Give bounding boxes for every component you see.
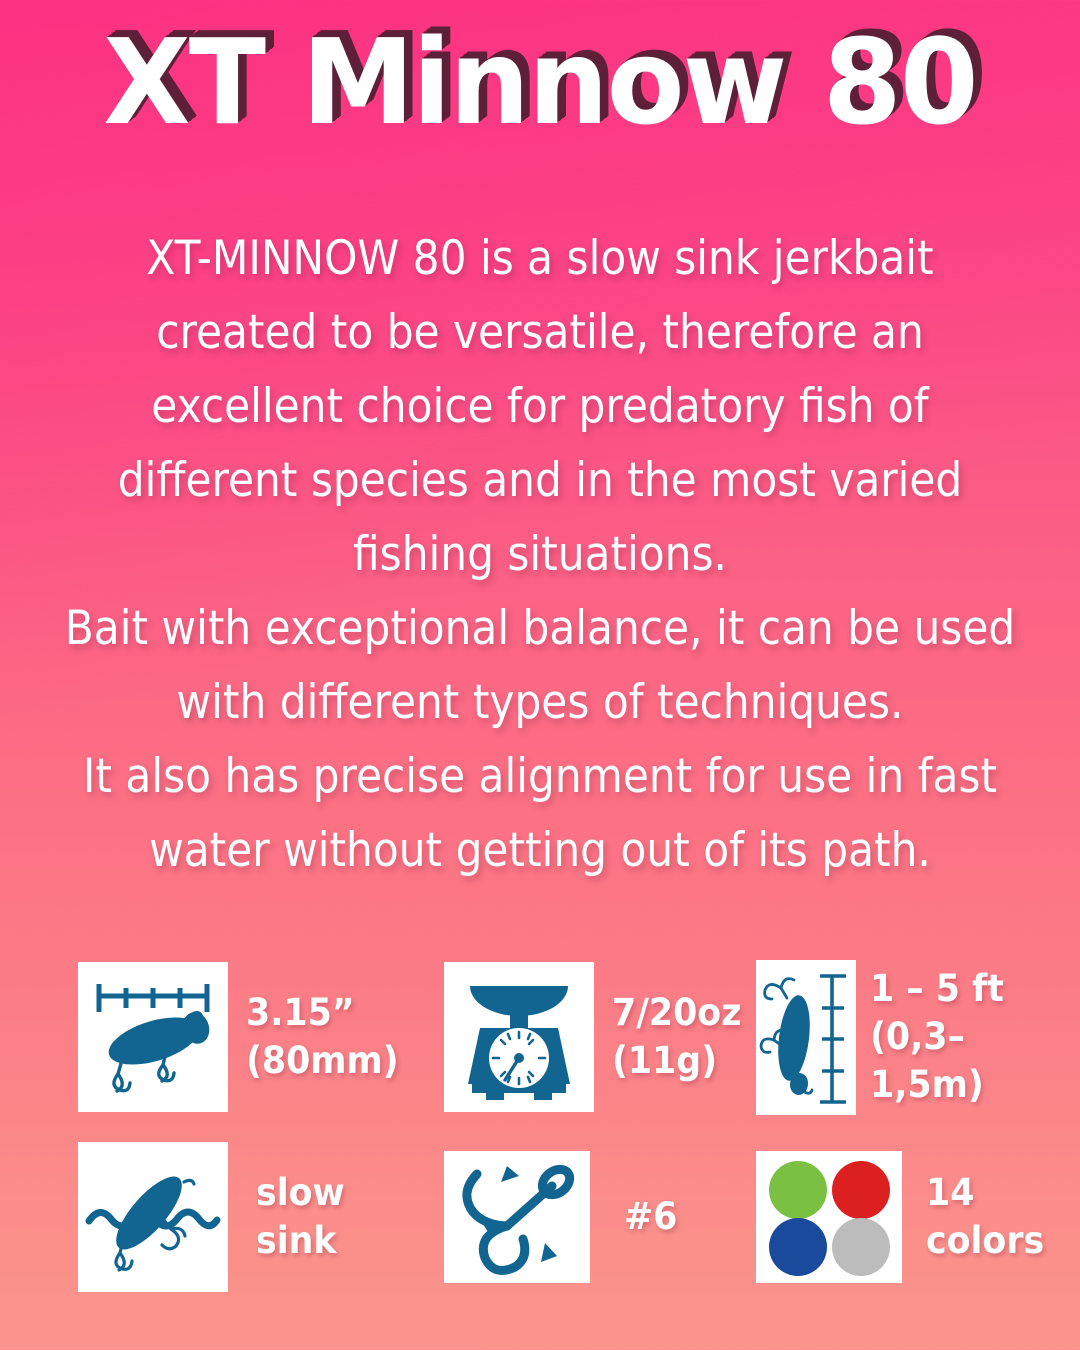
- spec-item-hook-size: #6: [444, 1151, 756, 1283]
- lure-with-ruler-icon: [78, 962, 228, 1112]
- swatch-blue: [769, 1218, 827, 1276]
- spec-label-buoyancy: slow sink: [256, 1169, 345, 1265]
- spec-item-buoyancy: slow sink: [78, 1142, 444, 1292]
- swatch-gray: [832, 1218, 890, 1276]
- spec-item-length: 3.15” (80mm): [78, 962, 444, 1112]
- swatch-green: [769, 1161, 827, 1219]
- kitchen-scale-icon: [444, 962, 594, 1112]
- spec-row: 3.15” (80mm): [78, 962, 1080, 1112]
- spec-label-colors: 14 colors: [926, 1169, 1044, 1265]
- spec-item-colors: 14 colors: [756, 1151, 1080, 1283]
- page-title: XT Minnow 80: [22, 16, 1059, 148]
- spec-label-weight: 7/20oz (11g): [612, 989, 741, 1085]
- spec-label-hook-size: #6: [624, 1193, 677, 1241]
- product-description: XT-MINNOW 80 is a slow sink jerkbait cre…: [63, 222, 1017, 888]
- color-swatches-icon: [756, 1151, 902, 1283]
- spec-item-weight: 7/20oz (11g): [444, 962, 756, 1112]
- swatch-red: [832, 1161, 890, 1219]
- spec-label-length: 3.15” (80mm): [246, 989, 399, 1085]
- lure-sinking-icon: [78, 1142, 228, 1292]
- specification-grid: 3.15” (80mm): [78, 962, 1080, 1292]
- spec-label-depth: 1 – 5 ft (0,3–1,5m): [870, 965, 1069, 1109]
- treble-hook-icon: [444, 1151, 590, 1283]
- spec-row: slow sink #6: [78, 1142, 1080, 1292]
- title-banner: XT Minnow 80: [0, 16, 1080, 156]
- spec-item-depth: 1 – 5 ft (0,3–1,5m): [756, 960, 1080, 1115]
- lure-depth-scale-icon: [756, 960, 856, 1115]
